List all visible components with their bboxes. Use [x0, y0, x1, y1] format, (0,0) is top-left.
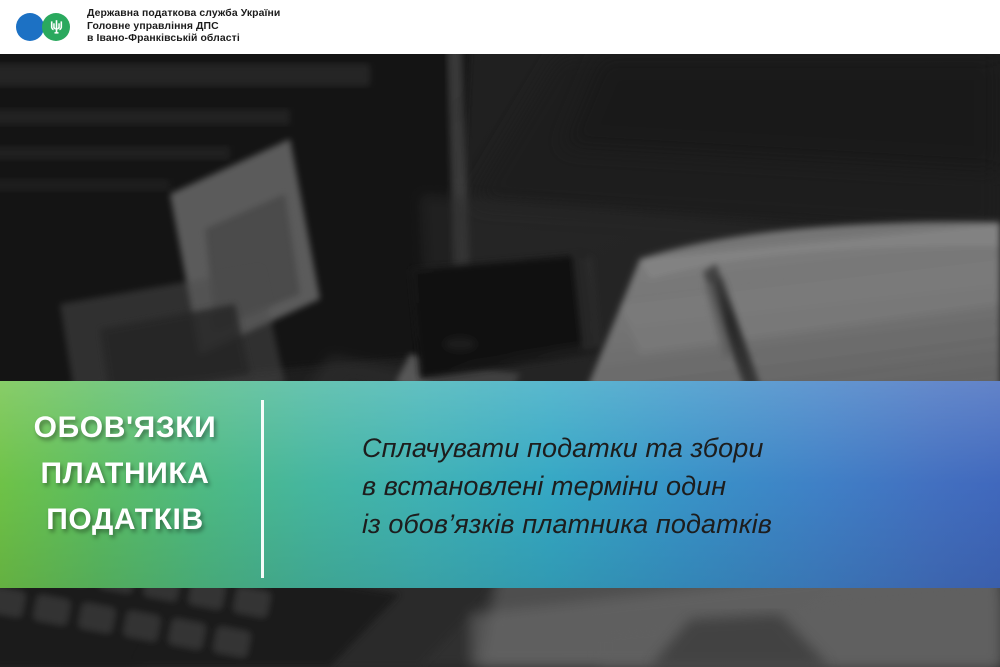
- banner-title-line-3: ПОДАТКІВ: [0, 497, 250, 543]
- banner-body-line-3: із обов’язків платника податків: [362, 505, 772, 543]
- banner-body-line-1: Сплачувати податки та збори: [362, 429, 772, 467]
- org-line-3: в Івано-Франківській області: [87, 33, 280, 46]
- ukraine-trident-icon: [50, 19, 63, 35]
- logo-blue-circle-icon: [16, 13, 44, 41]
- poster-root: Державна податкова служба України Головн…: [0, 0, 1000, 667]
- org-line-2: Головне управління ДПС: [87, 21, 280, 34]
- gradient-banner: ОБОВ'ЯЗКИ ПЛАТНИКА ПОДАТКІВ Сплачувати п…: [0, 381, 1000, 588]
- banner-body-line-2: в встановлені терміни один: [362, 467, 772, 505]
- banner-body-text: Сплачувати податки та збори в встановлен…: [362, 429, 772, 543]
- page-header: Державна податкова служба України Головн…: [0, 0, 1000, 54]
- dps-logo: [16, 12, 78, 42]
- banner-title: ОБОВ'ЯЗКИ ПЛАТНИКА ПОДАТКІВ: [0, 405, 250, 543]
- banner-title-line-1: ОБОВ'ЯЗКИ: [0, 405, 250, 451]
- banner-vertical-divider: [261, 400, 264, 578]
- logo-green-circle-icon: [42, 13, 70, 41]
- organization-name: Державна податкова служба України Головн…: [87, 8, 280, 46]
- org-line-1: Державна податкова служба України: [87, 8, 280, 21]
- banner-title-line-2: ПЛАТНИКА: [0, 451, 250, 497]
